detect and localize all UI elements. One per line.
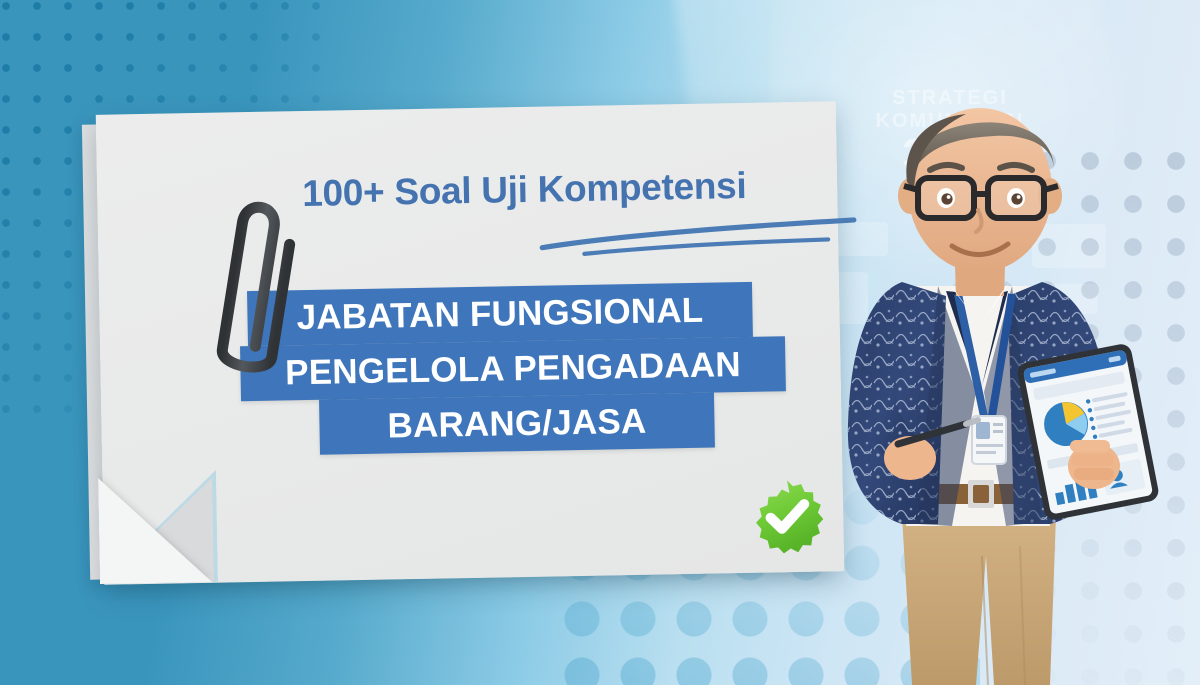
paper-card: 100+ Soal Uji Kompetensi JABATAN FUNGSIO…: [72, 96, 852, 596]
trousers: [902, 516, 1056, 685]
title-banner-line-2: PENGELOLA PENGADAAN: [240, 336, 786, 401]
title-banner-line-3: BARANG/JASA: [319, 393, 715, 455]
banner-canvas: STRATEGI KOMUNIKASI 360° 100+ Soal Uji K…: [0, 0, 1200, 685]
page-title: 100+ Soal Uji Kompetensi: [302, 165, 747, 215]
title-banner-line-1: JABATAN FUNGSIONAL: [247, 282, 753, 346]
businessman-illustration: [806, 86, 1166, 685]
